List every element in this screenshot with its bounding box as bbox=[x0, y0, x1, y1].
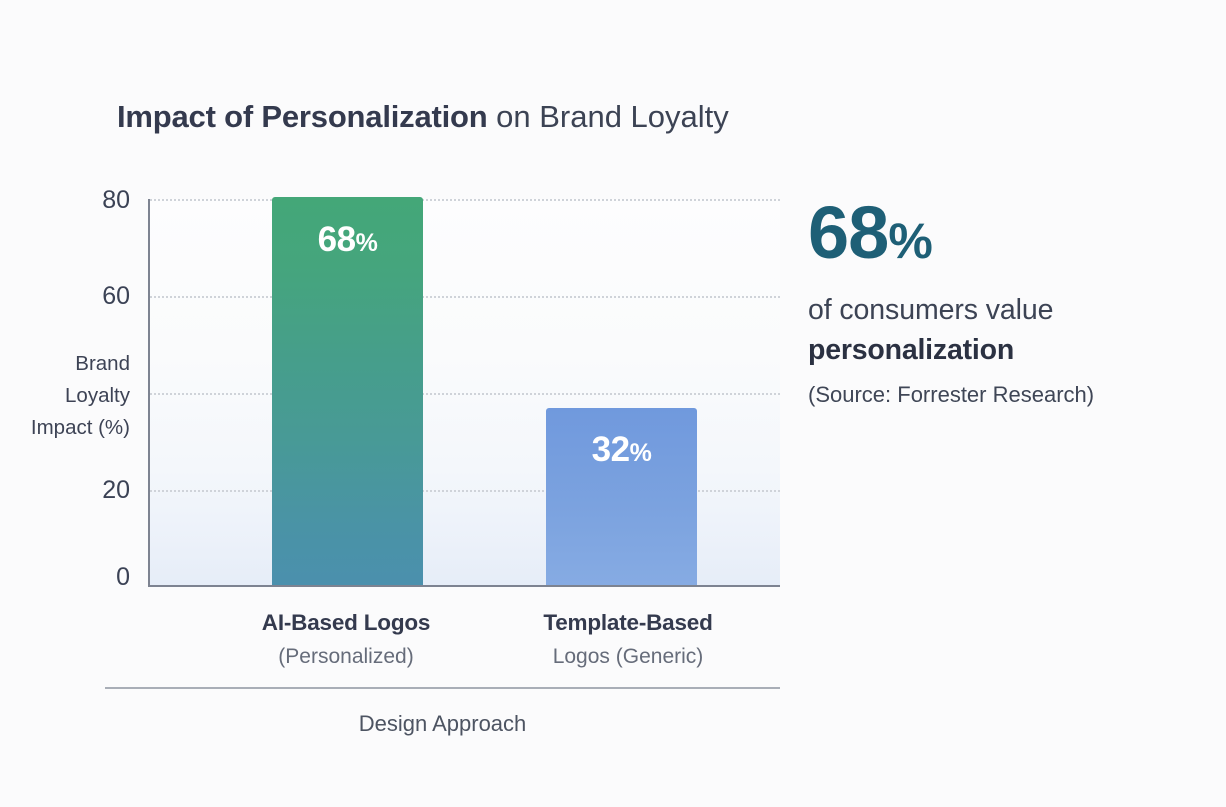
bar-ai-based-logos[interactable]: 68% bbox=[272, 197, 423, 585]
y-axis-title: Brand Loyalty Impact (%) bbox=[6, 348, 130, 444]
statistic-callout: 68% of consumers value personalization (… bbox=[808, 196, 1208, 410]
gridline-80 bbox=[150, 199, 780, 201]
x-category-label-0-sub: (Personalized) bbox=[196, 640, 496, 674]
y-tick-label-60: 60 bbox=[20, 284, 130, 309]
plot-area: 68% 32% bbox=[148, 199, 780, 587]
y-tick-label-0: 0 bbox=[20, 565, 130, 590]
bar-template-based-logos[interactable]: 32% bbox=[546, 408, 697, 585]
y-axis-title-line-2: Loyalty bbox=[6, 380, 130, 412]
x-category-label-1: Template-Based Logos (Generic) bbox=[478, 606, 778, 674]
callout-source: (Source: Forrester Research) bbox=[808, 380, 1208, 410]
bar-chart: 80 60 20 0 Brand Loyalty Impact (%) 68% … bbox=[0, 0, 800, 807]
y-axis-title-line-3: Impact (%) bbox=[6, 412, 130, 444]
callout-statistic-number: 68 bbox=[808, 191, 888, 274]
callout-line-2: personalization bbox=[808, 329, 1208, 371]
x-axis-divider bbox=[105, 687, 780, 689]
x-category-label-0: AI-Based Logos (Personalized) bbox=[196, 606, 496, 674]
gridline-40 bbox=[150, 393, 780, 395]
callout-statistic-percent: % bbox=[888, 213, 931, 269]
x-category-label-1-main: Template-Based bbox=[478, 606, 778, 640]
x-category-label-0-main: AI-Based Logos bbox=[196, 606, 496, 640]
x-category-label-1-sub: Logos (Generic) bbox=[478, 640, 778, 674]
bar-value-label-0: 68% bbox=[272, 220, 423, 260]
bar-value-label-1: 32% bbox=[546, 430, 697, 470]
x-axis-title: Design Approach bbox=[105, 711, 780, 737]
callout-statistic: 68% bbox=[808, 196, 1208, 270]
callout-line-1: of consumers value bbox=[808, 291, 1208, 329]
y-tick-label-20: 20 bbox=[20, 478, 130, 503]
y-axis-title-line-1: Brand bbox=[6, 348, 130, 380]
gridline-60 bbox=[150, 296, 780, 298]
y-tick-label-80: 80 bbox=[20, 188, 130, 213]
